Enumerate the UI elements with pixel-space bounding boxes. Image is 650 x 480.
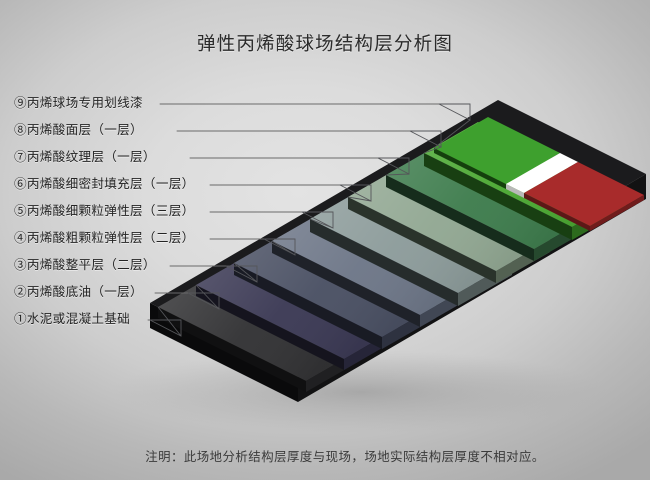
diagram-canvas: 弹性丙烯酸球场结构层分析图 [0, 0, 650, 480]
label-layer-5: ⑤丙烯酸细颗粒弹性层（三层） [14, 200, 195, 219]
label-layer-3: ③丙烯酸整平层（二层） [14, 254, 156, 273]
label-layer-8: ⑧丙烯酸面层（一层） [14, 119, 143, 138]
label-layer-1: ①水泥或混凝土基础 [14, 308, 130, 327]
footnote-text: 注明：此场地分析结构层厚度与现场，场地实际结构层厚度不相对应。 [0, 447, 650, 465]
label-layer-4: ④丙烯酸粗颗粒弹性层（二层） [14, 227, 195, 246]
label-layer-6: ⑥丙烯酸细密封填充层（一层） [14, 173, 195, 192]
label-layer-7: ⑦丙烯酸纹理层（一层） [14, 146, 156, 165]
label-layer-2: ②丙烯酸底油（一层） [14, 281, 143, 300]
label-layer-9: ⑨丙烯球场专用划线漆 [14, 92, 143, 111]
